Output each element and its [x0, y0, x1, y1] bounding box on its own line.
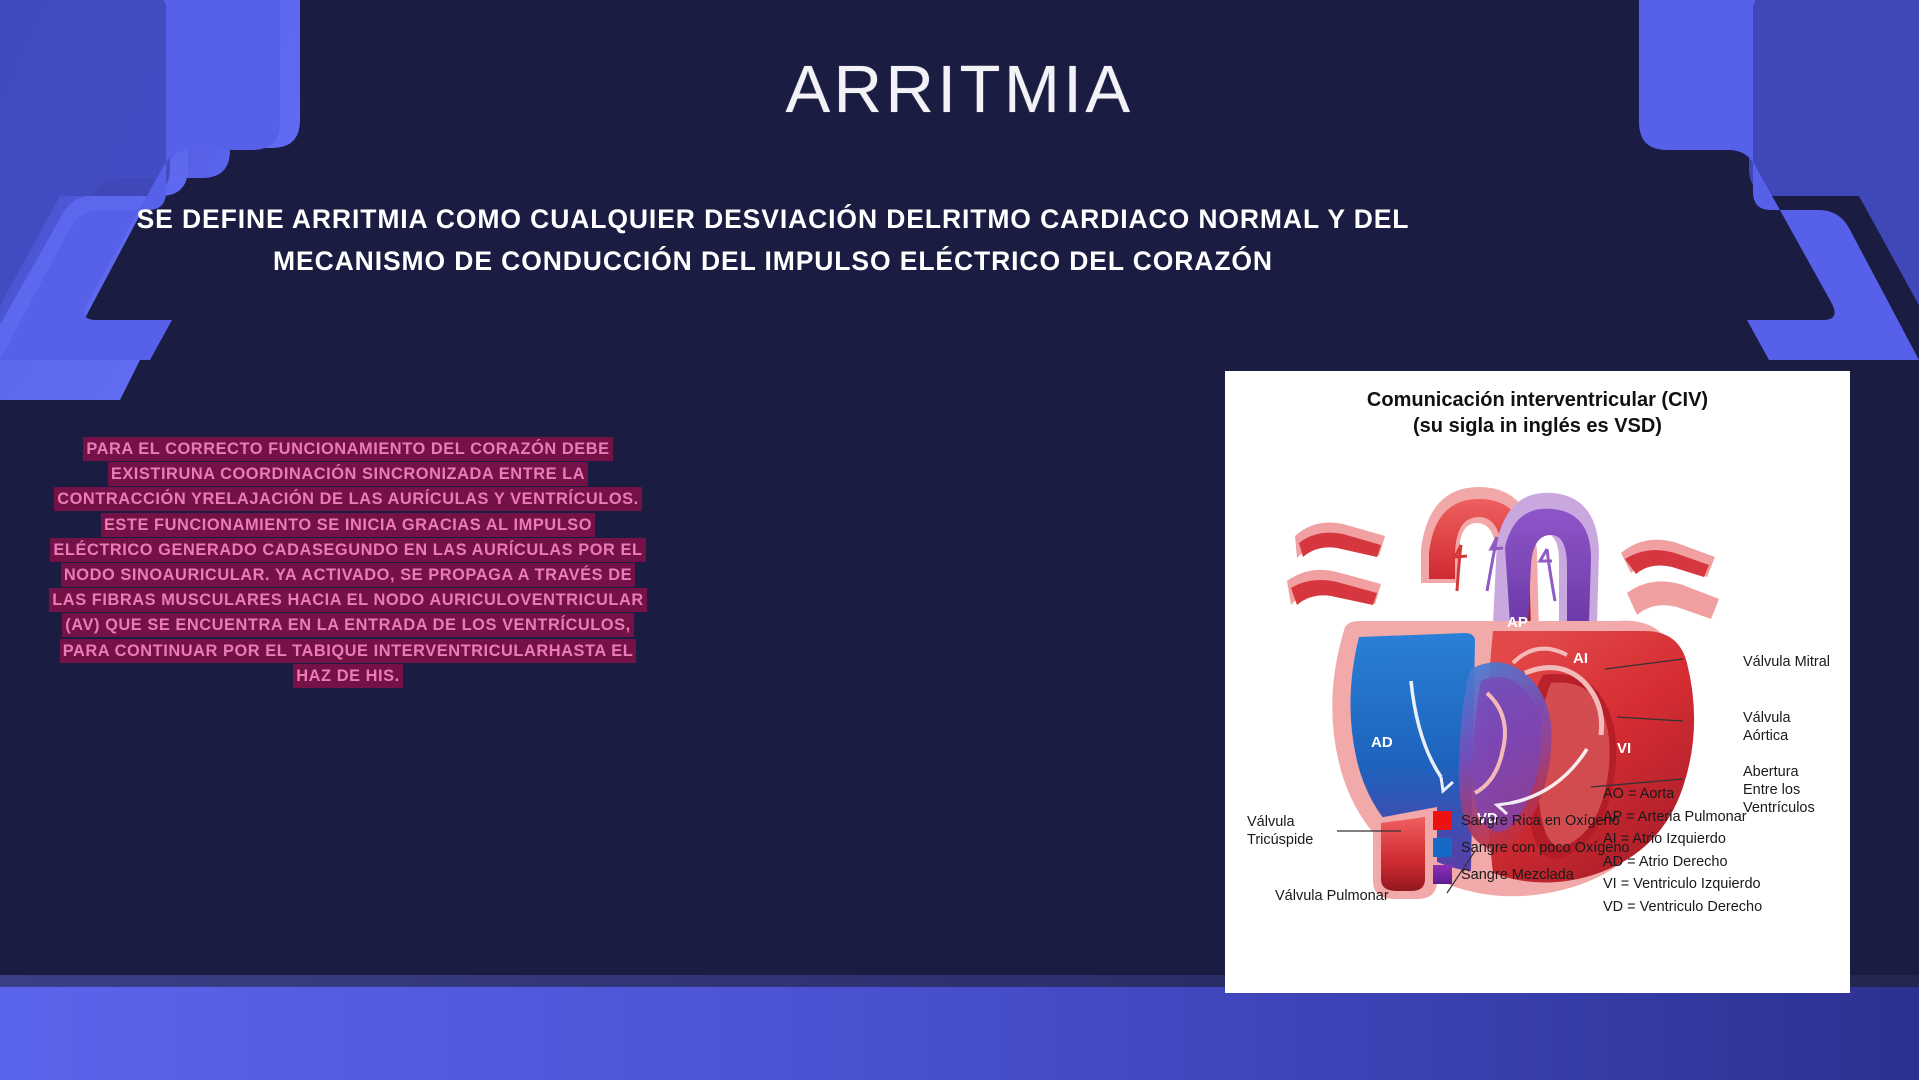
highlight-line-4: ESTE FUNCIONAMIENTO SE INICIA GRACIAS AL… — [104, 516, 592, 534]
deco-bottom-band — [0, 987, 1919, 1080]
tag-AD: AD — [1371, 734, 1393, 751]
abbrev-row: VD = Ventriculo Derecho — [1603, 896, 1762, 919]
legend-item: Sangre con poco Oxígeno — [1433, 838, 1629, 857]
highlight-row: ESTE FUNCIONAMIENTO SE INICIA GRACIAS AL… — [48, 513, 648, 538]
abbrev-row: AD = Atrio Derecho — [1603, 851, 1762, 874]
highlight-row: EXISTIRUNA COORDINACIÓN SINCRONIZADA ENT… — [48, 462, 648, 487]
callout-valvula-pulmonar: Válvula Pulmonar — [1275, 887, 1389, 905]
highlight-line-6: NODO SINOAURICULAR. YA ACTIVADO, SE PROP… — [64, 566, 632, 584]
abbrev-row: AP = Arteria Pulmonar — [1603, 806, 1762, 829]
highlight-line-2: EXISTIRUNA COORDINACIÓN SINCRONIZADA ENT… — [111, 465, 585, 483]
tag-AI: AI — [1573, 650, 1588, 667]
highlight-line-7: LAS FIBRAS MUSCULARES HACIA EL NODO AURI… — [52, 591, 643, 609]
highlight-row: HAZ DE HIS. — [48, 664, 648, 689]
deco-left-arrow-a — [0, 0, 170, 360]
highlight-line-9: PARA CONTINUAR POR EL TABIQUE INTERVENTR… — [63, 642, 634, 660]
slide-canvas: ARRITMIA SE DEFINE ARRITMIA COMO CUALQUI… — [0, 0, 1919, 1080]
diagram-title-line-1: Comunicación interventricular (CIV) — [1225, 387, 1850, 413]
heart-diagram-panel: Comunicación interventricular (CIV) (su … — [1225, 371, 1850, 993]
callout-valvula-aortica: Válvula Aórtica — [1743, 709, 1791, 745]
tag-VI: VI — [1617, 740, 1631, 757]
subtitle-line-1: SE DEFINE ARRITMIA COMO CUALQUIER DESVIA… — [128, 198, 1418, 240]
highlight-line-5: ELÉCTRICO GENERADO CADASEGUNDO EN LAS AU… — [53, 541, 642, 559]
diagram-abbreviations: AO = Aorta AP = Arteria Pulmonar AI = At… — [1603, 783, 1762, 918]
abbrev-row: AO = Aorta — [1603, 783, 1762, 806]
callout-valvula-tricuspide: Válvula Tricúspide — [1247, 813, 1313, 849]
tag-AO: AO — [1405, 600, 1428, 617]
callout-valvula-mitral: Válvula Mitral — [1743, 653, 1830, 671]
subtitle-block: SE DEFINE ARRITMIA COMO CUALQUIER DESVIA… — [128, 198, 1418, 282]
highlight-row: PARA CONTINUAR POR EL TABIQUE INTERVENTR… — [48, 639, 648, 664]
deco-right-arrow-a — [1749, 0, 1919, 360]
highlight-line-8: (AV) QUE SE ENCUENTRA EN LA ENTRADA DE L… — [65, 616, 630, 634]
legend-swatch-oxygen-poor — [1433, 838, 1452, 857]
highlight-row: (AV) QUE SE ENCUENTRA EN LA ENTRADA DE L… — [48, 613, 648, 638]
abbrev-row: AI = Atrio Izquierdo — [1603, 828, 1762, 851]
legend-item: Sangre Rica en Oxígeno — [1433, 811, 1629, 830]
highlight-row: LAS FIBRAS MUSCULARES HACIA EL NODO AURI… — [48, 588, 648, 613]
abbrev-row: VI = Ventriculo Izquierdo — [1603, 873, 1762, 896]
legend-swatch-oxygen-rich — [1433, 811, 1452, 830]
highlight-line-3: CONTRACCIÓN YRELAJACIÓN DE LAS AURÍCULAS… — [57, 490, 639, 508]
diagram-legend: Sangre Rica en Oxígeno Sangre con poco O… — [1433, 811, 1629, 892]
highlight-row: NODO SINOAURICULAR. YA ACTIVADO, SE PROP… — [48, 563, 648, 588]
highlight-row: CONTRACCIÓN YRELAJACIÓN DE LAS AURÍCULAS… — [48, 487, 648, 512]
legend-swatch-mixed — [1433, 865, 1452, 884]
page-title-text: ARRITMIA — [0, 55, 1919, 125]
tag-AP: AP — [1507, 614, 1528, 631]
page-title: ARRITMIA — [0, 55, 1919, 125]
deco-top-left-back — [0, 0, 230, 340]
highlight-line-1: PARA EL CORRECTO FUNCIONAMIENTO DEL CORA… — [86, 440, 609, 458]
highlight-line-10: HAZ DE HIS. — [296, 667, 400, 685]
subtitle-line-2: MECANISMO DE CONDUCCIÓN DEL IMPULSO ELÉC… — [128, 240, 1418, 282]
deco-right-arrow-b — [1639, 0, 1919, 360]
heart-vessels-right — [1621, 540, 1719, 619]
legend-item: Sangre Mezclada — [1433, 865, 1629, 884]
heart-vessels-left — [1287, 523, 1385, 606]
legend-label: Sangre Mezclada — [1461, 867, 1574, 883]
highlighted-paragraph: PARA EL CORRECTO FUNCIONAMIENTO DEL CORA… — [48, 437, 648, 689]
legend-label: Sangre Rica en Oxígeno — [1461, 813, 1620, 829]
highlight-row: PARA EL CORRECTO FUNCIONAMIENTO DEL CORA… — [48, 437, 648, 462]
deco-left-arrow-b — [0, 0, 280, 360]
highlight-row: ELÉCTRICO GENERADO CADASEGUNDO EN LAS AU… — [48, 538, 648, 563]
